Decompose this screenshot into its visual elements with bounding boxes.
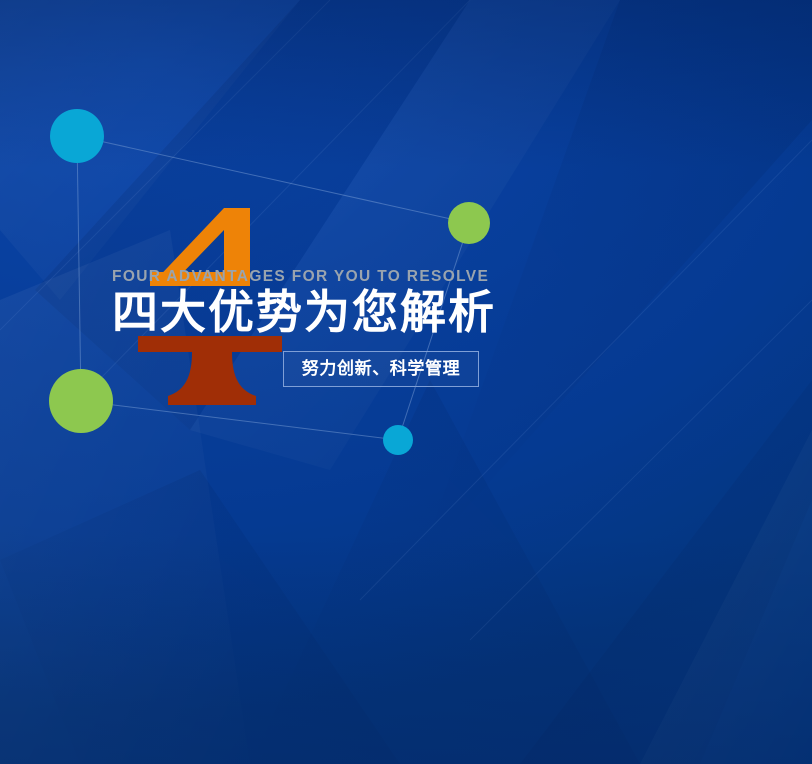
node-green-bottom-left [49,369,113,433]
node-cyan-bottom [383,425,413,455]
tagline-box: 努力创新、科学管理 [283,351,479,387]
eyebrow-text: FOUR ADVANTAGES FOR YOU TO RESOLVE [112,268,752,285]
headline-block: FOUR ADVANTAGES FOR YOU TO RESOLVE 四大优势为… [112,268,752,339]
promo-banner: FOUR ADVANTAGES FOR YOU TO RESOLVE 四大优势为… [0,0,812,764]
node-cyan-top-left [50,109,104,163]
tagline-text: 努力创新、科学管理 [302,361,460,378]
page-title: 四大优势为您解析 [112,287,752,339]
node-green-right [448,202,490,244]
logo-lower-dark-red-glyph [138,336,282,405]
